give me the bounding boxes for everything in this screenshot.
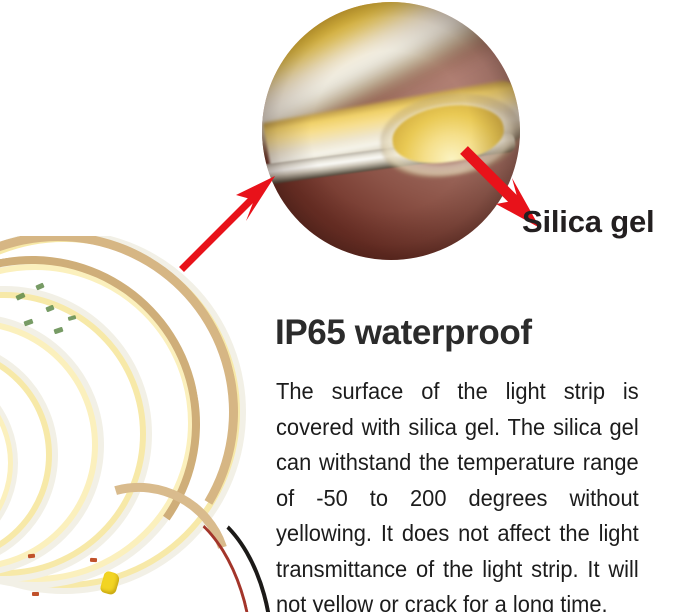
feature-description: The surface of the light strip is covere… <box>276 374 639 612</box>
strip-resistor-dot <box>28 554 35 559</box>
red-arrow-strip-to-closeup <box>180 176 290 272</box>
feature-heading: IP65 waterproof <box>275 313 532 353</box>
cob-led-strip-reel-photo <box>0 236 272 612</box>
strip-resistor-dot <box>90 558 97 562</box>
strip-resistor-dot <box>32 592 39 596</box>
silica-gel-callout-label: Silica gel <box>522 204 654 240</box>
product-feature-graphic: Silica gel IP65 waterproof The surface o… <box>0 0 679 612</box>
